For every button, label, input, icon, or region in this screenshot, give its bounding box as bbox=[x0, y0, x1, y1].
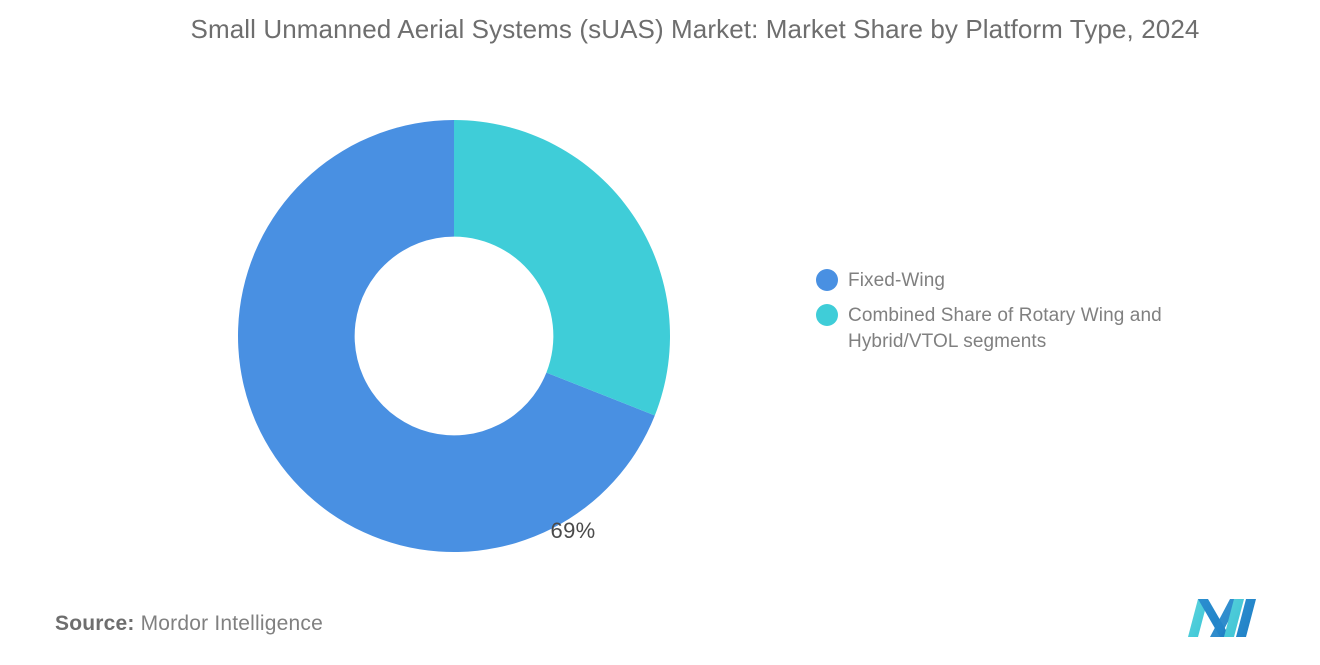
chart-container: Small Unmanned Aerial Systems (sUAS) Mar… bbox=[0, 0, 1320, 665]
source-label: Source: bbox=[55, 612, 135, 635]
mordor-intelligence-logo-icon bbox=[1186, 597, 1258, 639]
legend-item-rotary-hybrid-vtol[interactable]: Combined Share of Rotary Wing and Hybrid… bbox=[816, 303, 1246, 355]
legend-item-fixed-wing[interactable]: Fixed-Wing bbox=[816, 268, 1246, 294]
legend-item-label: Fixed-Wing bbox=[848, 268, 945, 294]
legend-item-label: Combined Share of Rotary Wing and Hybrid… bbox=[848, 303, 1223, 355]
legend-color-swatch-icon bbox=[816, 304, 838, 326]
donut-slice-rotary-hybrid-vtol[interactable] bbox=[454, 120, 670, 416]
slice-data-label: 69% bbox=[533, 518, 613, 544]
legend-color-swatch-icon bbox=[816, 269, 838, 291]
chart-legend: Fixed-Wing Combined Share of Rotary Wing… bbox=[816, 268, 1246, 364]
donut-chart: 69% bbox=[238, 120, 670, 552]
source-value: Mordor Intelligence bbox=[141, 612, 323, 635]
donut-svg bbox=[238, 120, 670, 552]
page-title: Small Unmanned Aerial Systems (sUAS) Mar… bbox=[160, 10, 1230, 48]
source-attribution: Source:Mordor Intelligence bbox=[55, 612, 323, 636]
